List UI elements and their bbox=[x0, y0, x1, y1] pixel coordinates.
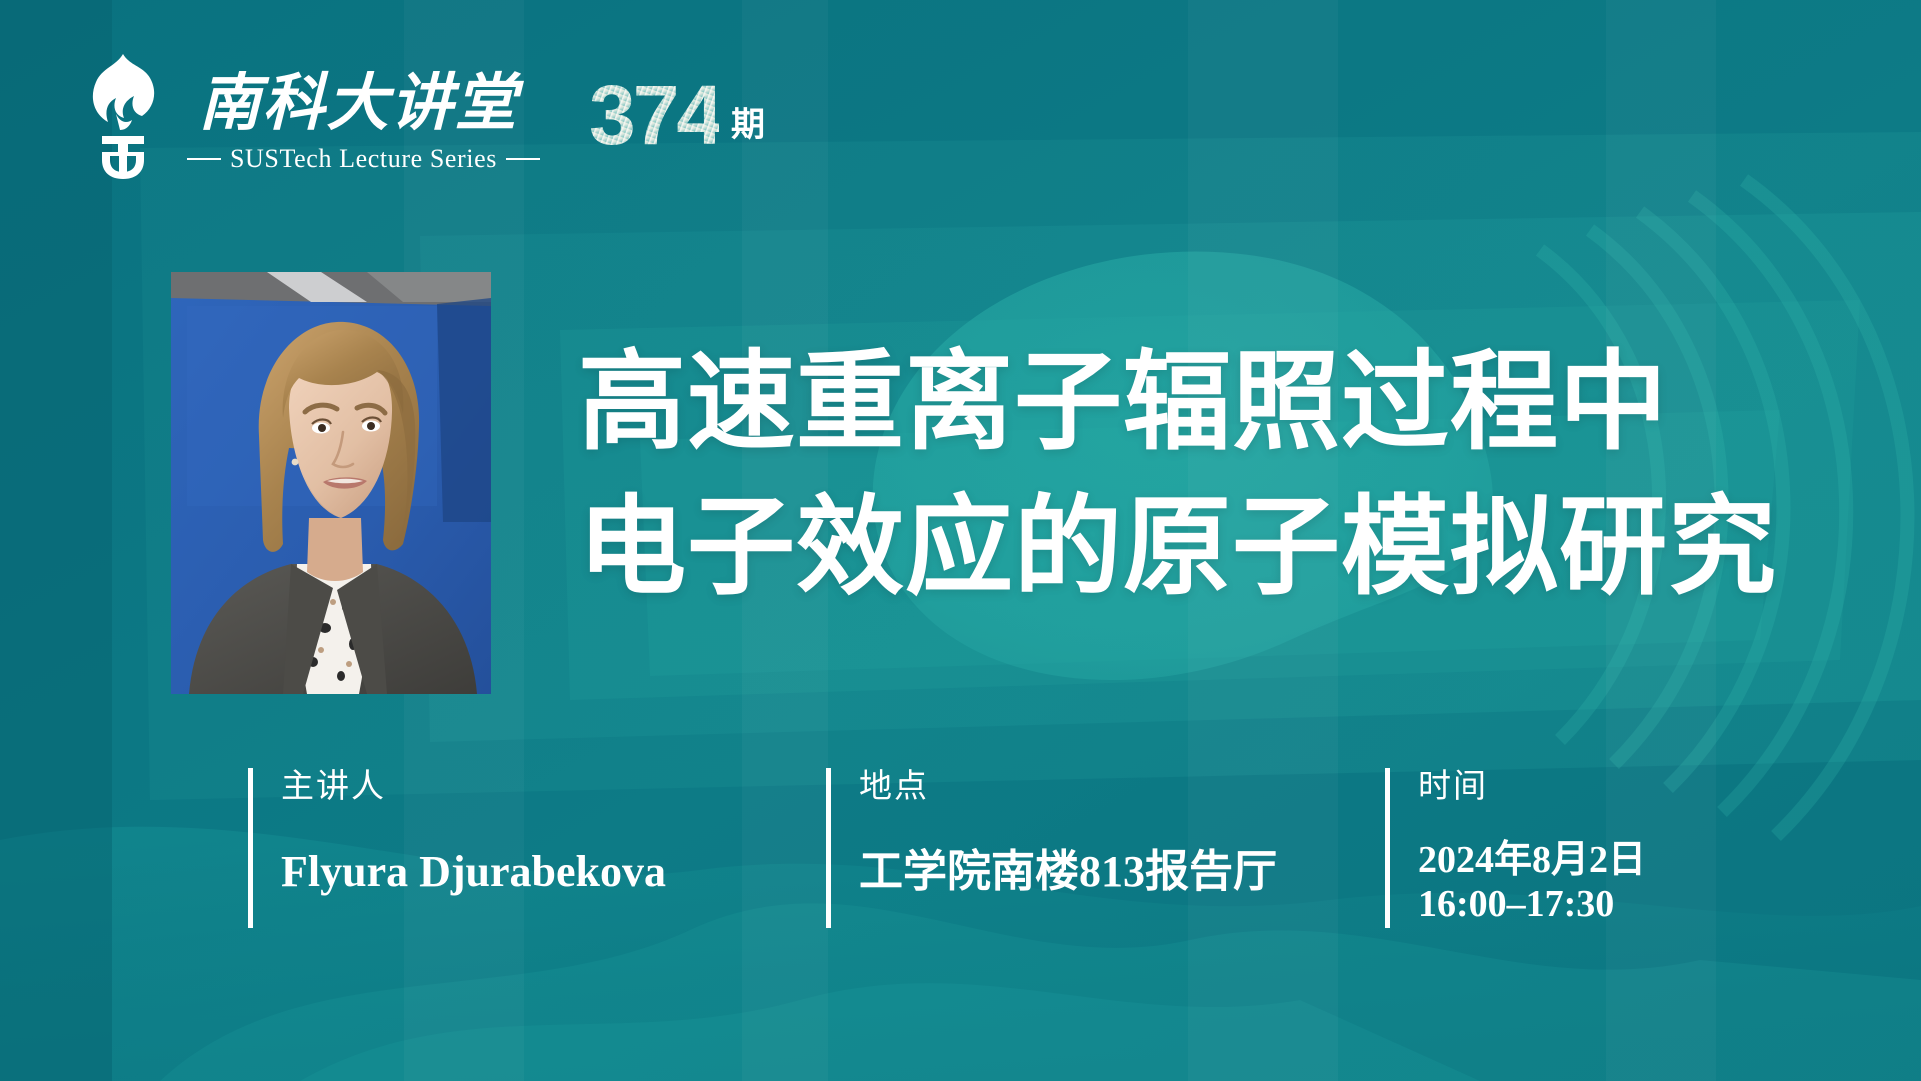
time-hours: 16:00–17:30 bbox=[1418, 882, 1646, 926]
lecture-poster: 南科大讲堂 SUSTech Lecture Series bbox=[0, 0, 1921, 1081]
issue-number-graphic: 374 bbox=[589, 72, 719, 158]
brand-block: 南科大讲堂 SUSTech Lecture Series bbox=[178, 52, 549, 174]
issue-unit-label: 期 bbox=[731, 97, 765, 146]
venue-divider-bar bbox=[826, 768, 831, 928]
venue-label: 地点 bbox=[859, 771, 1277, 804]
lecture-title: 高速重离子辐照过程中 电子效应的原子模拟研究 bbox=[578, 330, 1798, 619]
info-block-speaker: 主讲人 Flyura Djurabekova bbox=[248, 768, 666, 928]
venue-text: 地点 工学院南楼813报告厅 bbox=[859, 768, 1277, 928]
speaker-name: Flyura Djurabekova bbox=[281, 846, 666, 897]
issue-number-text: 374 bbox=[589, 72, 719, 158]
speaker-divider-bar bbox=[248, 768, 253, 928]
brand-dash-right bbox=[506, 158, 540, 160]
title-line-1: 高速重离子辐照过程中 bbox=[578, 330, 1798, 475]
time-date: 2024年8月2日 bbox=[1418, 838, 1646, 882]
speaker-portrait-image bbox=[171, 272, 491, 694]
venue-name: 工学院南楼813报告厅 bbox=[859, 846, 1277, 897]
time-label: 时间 bbox=[1418, 771, 1646, 804]
info-row: 主讲人 Flyura Djurabekova 地点 工学院南楼813报告厅 时间… bbox=[0, 768, 1921, 948]
time-text: 时间 2024年8月2日 16:00–17:30 bbox=[1418, 768, 1646, 928]
info-block-time: 时间 2024年8月2日 16:00–17:30 bbox=[1385, 768, 1646, 928]
sustech-torch-flame-icon bbox=[86, 52, 160, 180]
speaker-label: 主讲人 bbox=[281, 771, 666, 804]
poster-header: 南科大讲堂 SUSTech Lecture Series bbox=[86, 52, 765, 182]
brand-en-text: SUSTech Lecture Series bbox=[230, 144, 497, 174]
speaker-text: 主讲人 Flyura Djurabekova bbox=[281, 768, 666, 928]
info-block-venue: 地点 工学院南楼813报告厅 bbox=[826, 768, 1277, 928]
brand-cn-calligraphy: 南科大讲堂 bbox=[178, 66, 549, 140]
title-line-2: 电子效应的原子模拟研究 bbox=[578, 475, 1798, 620]
brand-en-line: SUSTech Lecture Series bbox=[178, 144, 549, 174]
speaker-portrait bbox=[171, 272, 491, 694]
time-divider-bar bbox=[1385, 768, 1390, 928]
brand-dash-left bbox=[187, 158, 221, 160]
time-value: 2024年8月2日 16:00–17:30 bbox=[1418, 838, 1646, 926]
issue-number-block: 374 期 bbox=[589, 52, 765, 158]
brand-cn-text: 南科大讲堂 bbox=[198, 70, 524, 138]
